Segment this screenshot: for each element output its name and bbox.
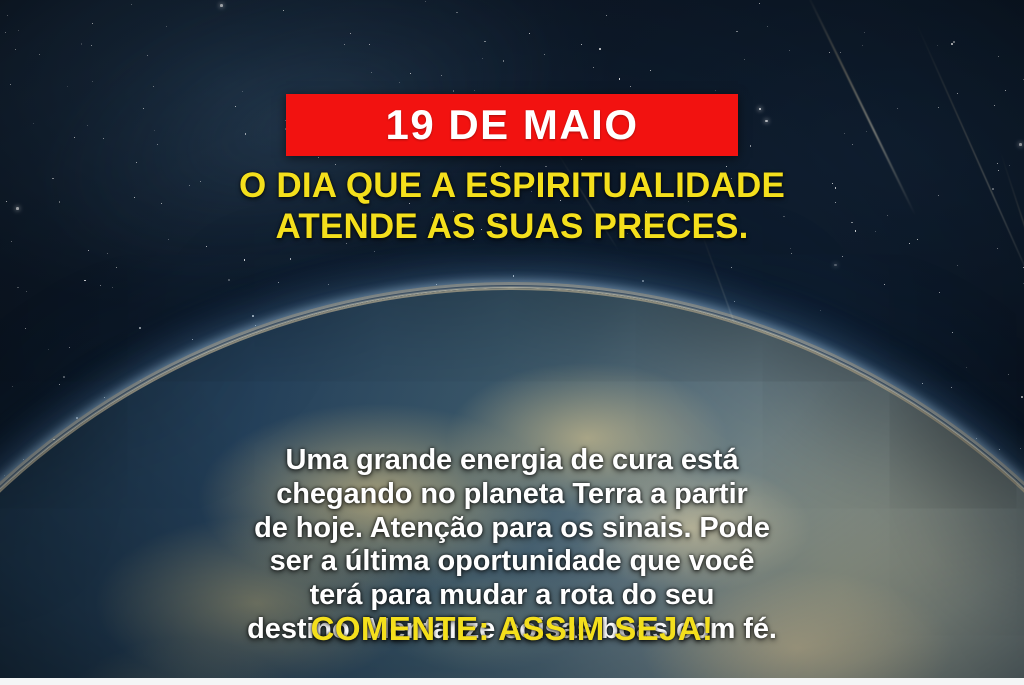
body-line-2: chegando no planeta Terra a partir: [36, 478, 988, 512]
call-to-action-text: COMENTE: ASSIM SEJA!: [0, 612, 1024, 645]
body-line-1: Uma grande energia de cura está: [36, 444, 988, 478]
poster-content: 19 DE MAIO O DIA QUE A ESPIRITUALIDADE A…: [0, 0, 1024, 685]
date-banner-text: 19 DE MAIO: [385, 104, 638, 146]
headline-line-1: O DIA QUE A ESPIRITUALIDADE: [40, 166, 984, 207]
date-banner: 19 DE MAIO: [286, 94, 738, 156]
headline-line-2: ATENDE AS SUAS PRECES.: [40, 207, 984, 248]
body-line-3: de hoje. Atenção para os sinais. Pode: [36, 512, 988, 546]
bottom-frame-strip: [0, 678, 1024, 685]
body-line-5: terá para mudar a rota do seu: [36, 579, 988, 613]
poster-canvas: 19 DE MAIO O DIA QUE A ESPIRITUALIDADE A…: [0, 0, 1024, 685]
body-line-4: ser a última oportunidade que você: [36, 545, 988, 579]
headline: O DIA QUE A ESPIRITUALIDADE ATENDE AS SU…: [0, 166, 1024, 247]
